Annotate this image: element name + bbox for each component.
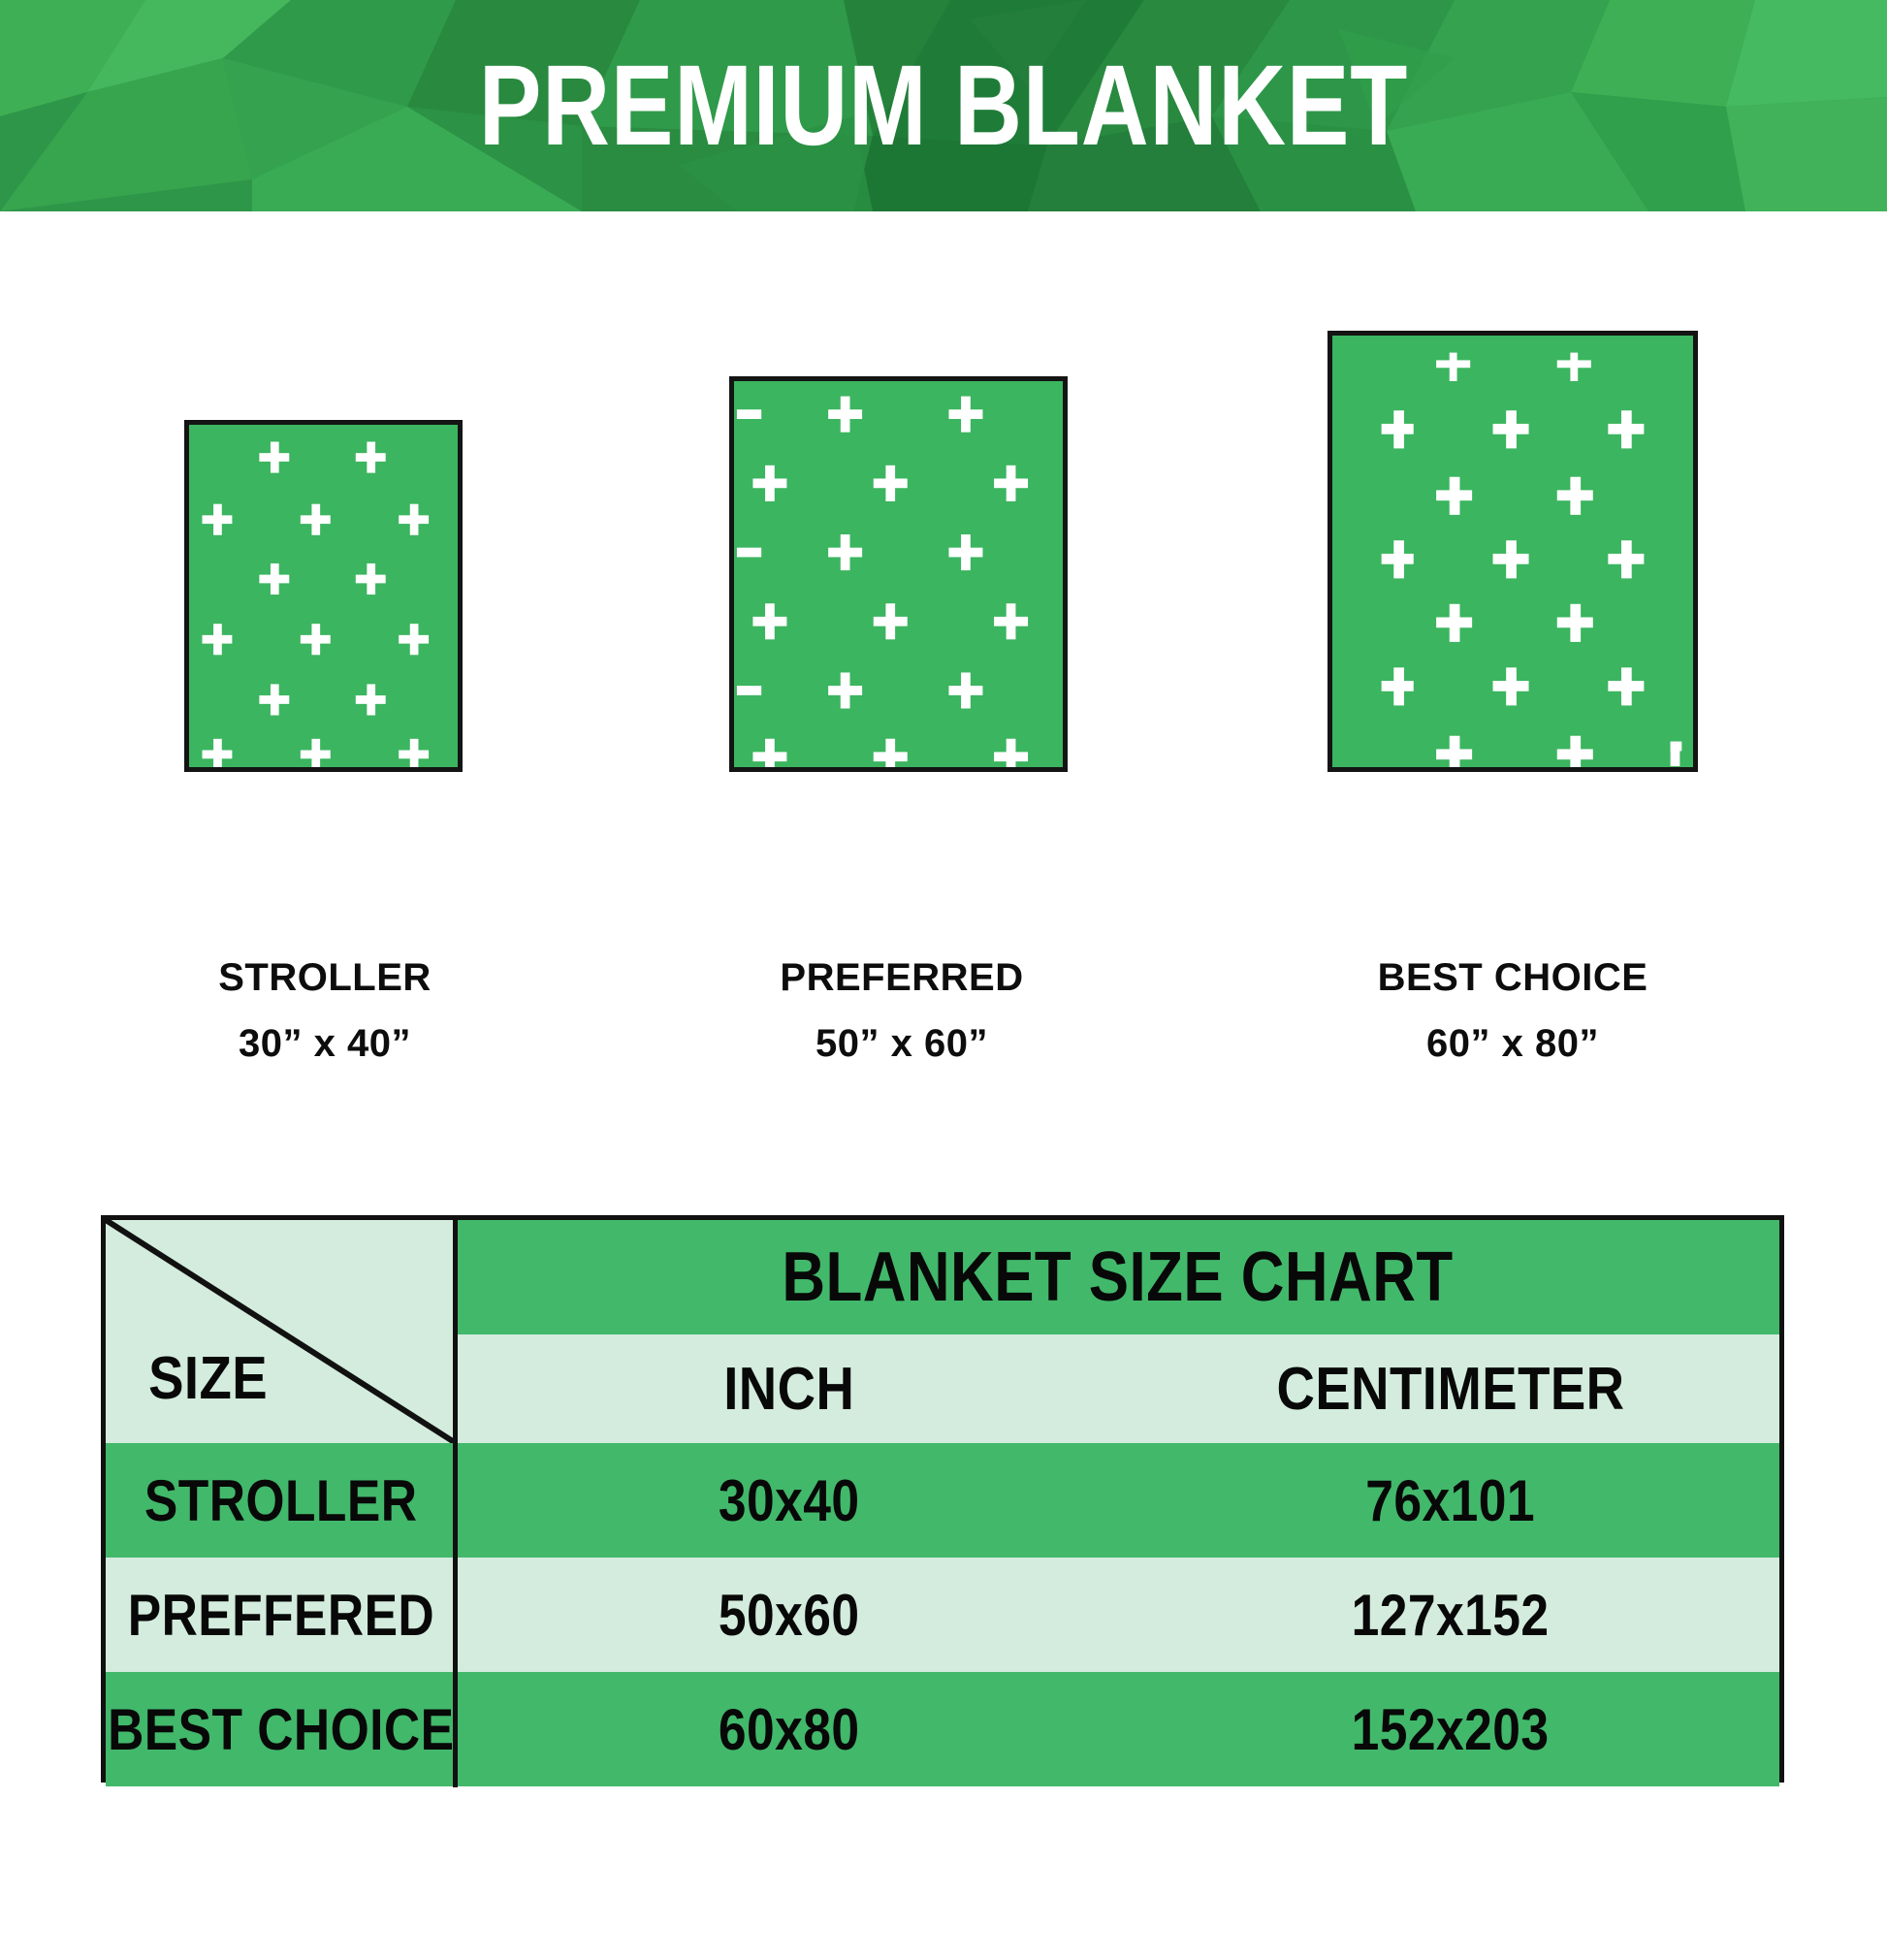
blanket-swatch-stroller	[184, 420, 463, 772]
cell-inch-best-choice: 60x80	[456, 1672, 1122, 1786]
swatch-name-best-choice: BEST CHOICE	[1280, 958, 1745, 997]
header-banner: PREMIUM BLANKET	[0, 0, 1887, 211]
table-row: PREFFERED 50x60 127x152	[106, 1558, 1779, 1672]
plus-icon-pattern	[734, 381, 1063, 767]
swatch-dimensions-best-choice: 60” x 80”	[1280, 1024, 1745, 1063]
cell-inch-preffered: 50x60	[456, 1558, 1122, 1672]
table-title-text: BLANKET SIZE CHART	[782, 1237, 1453, 1317]
swatch-caption-best-choice: BEST CHOICE 60” x 80”	[1280, 958, 1745, 1063]
table-column-divider	[453, 1220, 458, 1787]
blanket-size-chart-table: SIZE BLANKET SIZE CHART INCH CENTIMETER …	[101, 1215, 1784, 1783]
cell-centimeter-best-choice: 152x203	[1122, 1672, 1779, 1786]
table-row: BEST CHOICE 60x80 152x203	[106, 1672, 1779, 1786]
swatch-caption-stroller: STROLLER 30” x 40”	[107, 958, 543, 1063]
cell-size-preffered: PREFFERED	[106, 1558, 456, 1672]
page-title: PREMIUM BLANKET	[170, 0, 1717, 211]
swatch-caption-preferred: PREFERRED 50” x 60”	[679, 958, 1125, 1063]
cell-size-best-choice: BEST CHOICE	[106, 1672, 456, 1786]
table-corner-cell: SIZE	[106, 1220, 456, 1443]
swatch-gallery: STROLLER 30” x 40”	[0, 211, 1887, 1181]
cell-inch-stroller: 30x40	[456, 1443, 1122, 1558]
table-corner-label: SIZE	[106, 1344, 310, 1413]
blanket-swatch-best-choice	[1327, 331, 1698, 772]
column-header-inch: INCH	[456, 1334, 1122, 1443]
table-title-band: BLANKET SIZE CHART	[456, 1220, 1779, 1334]
blanket-swatch-preferred	[729, 376, 1068, 772]
cell-centimeter-stroller: 76x101	[1122, 1443, 1779, 1558]
swatch-name-stroller: STROLLER	[107, 958, 543, 997]
table-column-header-row: INCH CENTIMETER	[456, 1334, 1779, 1443]
cell-centimeter-preffered: 127x152	[1122, 1558, 1779, 1672]
swatch-name-preferred: PREFERRED	[679, 958, 1125, 997]
column-header-centimeter: CENTIMETER	[1122, 1334, 1779, 1443]
plus-icon-pattern	[1332, 336, 1693, 767]
swatch-dimensions-stroller: 30” x 40”	[107, 1024, 543, 1063]
size-chart-page: PREMIUM BLANKET	[0, 0, 1887, 1960]
cell-size-stroller: STROLLER	[106, 1443, 456, 1558]
table-row: STROLLER 30x40 76x101	[106, 1443, 1779, 1558]
swatch-dimensions-preferred: 50” x 60”	[679, 1024, 1125, 1063]
plus-icon-pattern	[189, 425, 458, 767]
